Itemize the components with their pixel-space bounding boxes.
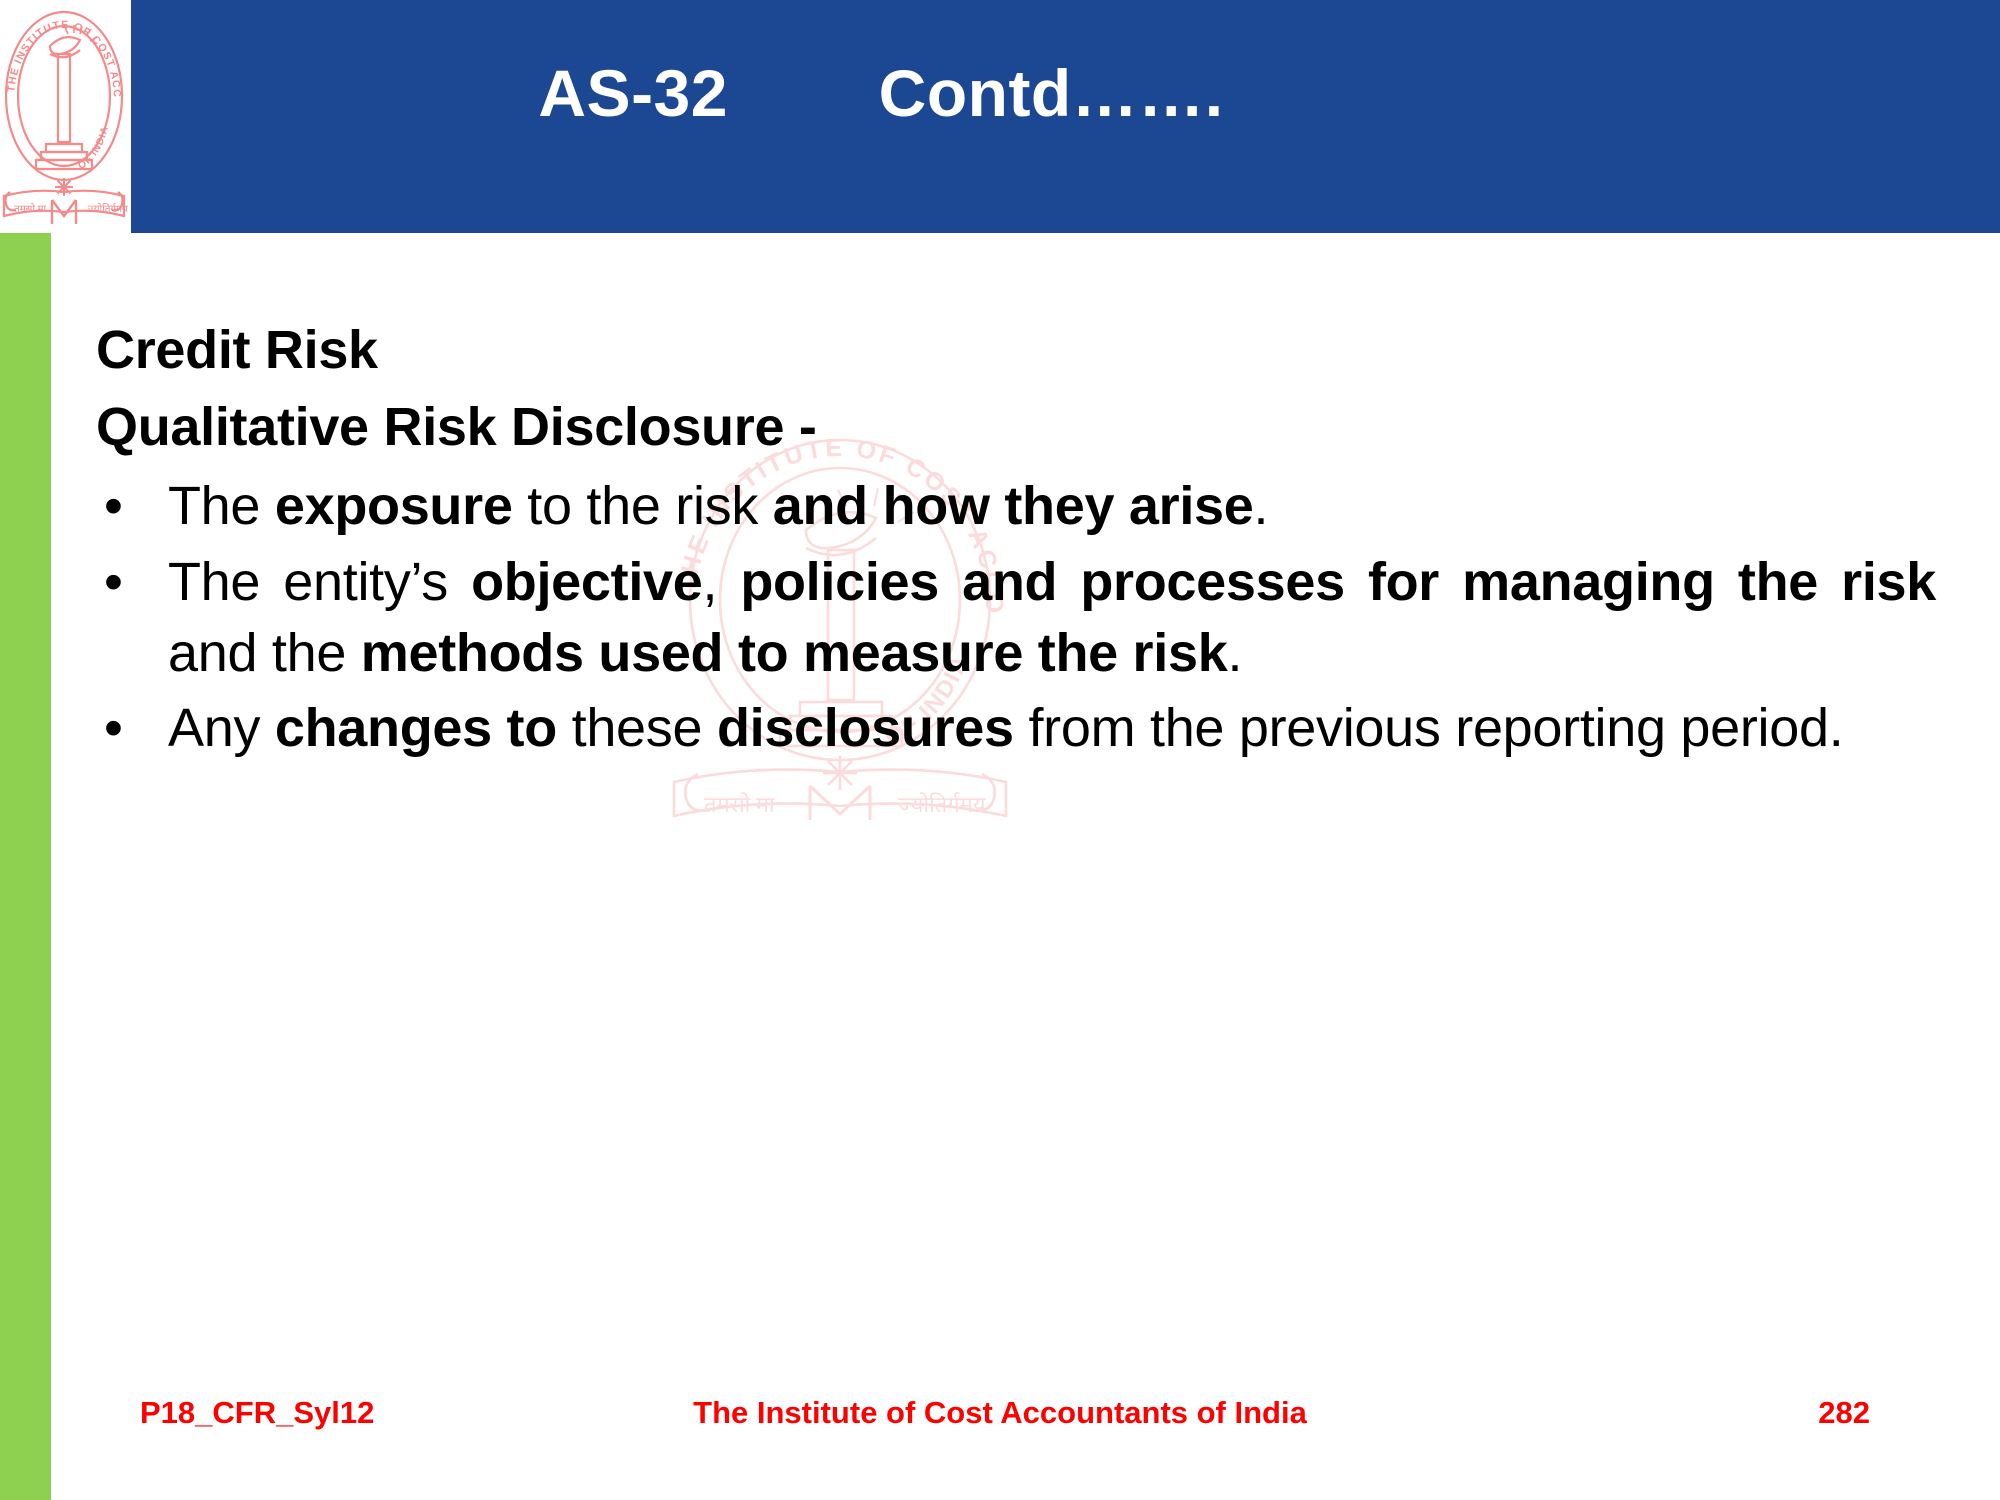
bullet-list: • The exposure to the risk and how they …: [96, 471, 1936, 764]
bullet-marker: •: [104, 471, 123, 542]
bullet-marker: •: [104, 547, 123, 618]
list-item: • Any changes to these disclosures from …: [96, 693, 1936, 764]
presentation-slide: THE INSTITUTE OF COST ACCOUNTANTS OF IND…: [0, 0, 2000, 1500]
bullet-text: The exposure to the risk and how they ar…: [168, 476, 1268, 536]
svg-text:तमसो मा: तमसो मा: [14, 203, 47, 215]
slide-body: Credit Risk Qualitative Risk Disclosure …: [96, 312, 1936, 1312]
slide-title: AS-32 Contd…….: [131, 55, 1631, 131]
heading-qualitative-risk-disclosure: Qualitative Risk Disclosure -: [96, 389, 1936, 466]
heading-credit-risk: Credit Risk: [96, 312, 1936, 389]
bullet-marker: •: [104, 693, 123, 764]
icai-logo-icon: THE INSTITUTE OF COST ACCOUNTANTS OF IND…: [0, 0, 132, 232]
footer-institute-name: The Institute of Cost Accountants of Ind…: [0, 1395, 2000, 1431]
bullet-text: Any changes to these disclosures from th…: [168, 698, 1843, 758]
list-item: • The entity’s objective, policies and p…: [96, 547, 1936, 690]
slide-footer: P18_CFR_Syl12 The Institute of Cost Acco…: [0, 1395, 2000, 1465]
left-accent-bar: [0, 233, 51, 1500]
list-item: • The exposure to the risk and how they …: [96, 471, 1936, 542]
footer-page-number: 282: [1818, 1395, 1870, 1431]
bullet-text: The entity’s objective, policies and pro…: [168, 552, 1936, 683]
svg-text:ज्योतिर्गमय: ज्योतिर्गमय: [88, 203, 128, 215]
